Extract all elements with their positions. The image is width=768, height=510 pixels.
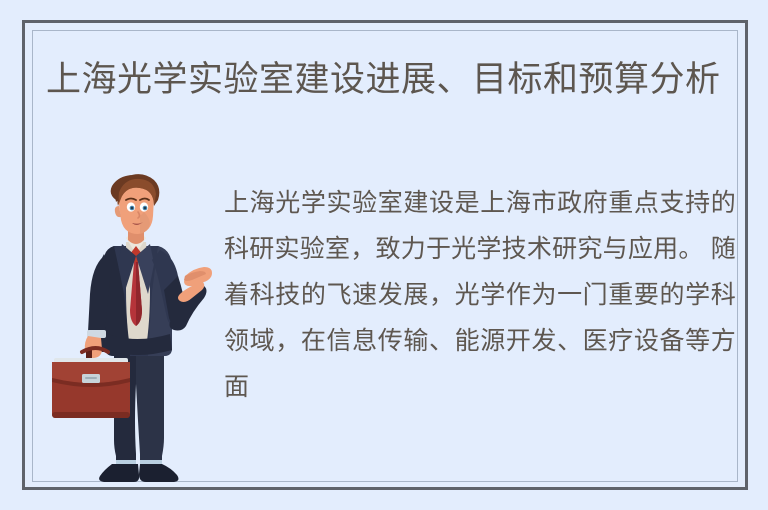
page-title: 上海光学实验室建设进展、目标和预算分析 — [46, 57, 736, 103]
article-card-canvas: 上海光学实验室建设进展、目标和预算分析 — [0, 0, 768, 510]
businessman-illustration — [52, 172, 212, 484]
article-body-text: 上海光学实验室建设是上海市政府重点支持的科研实验室，致力于光学技术研究与应用。 … — [224, 180, 736, 410]
